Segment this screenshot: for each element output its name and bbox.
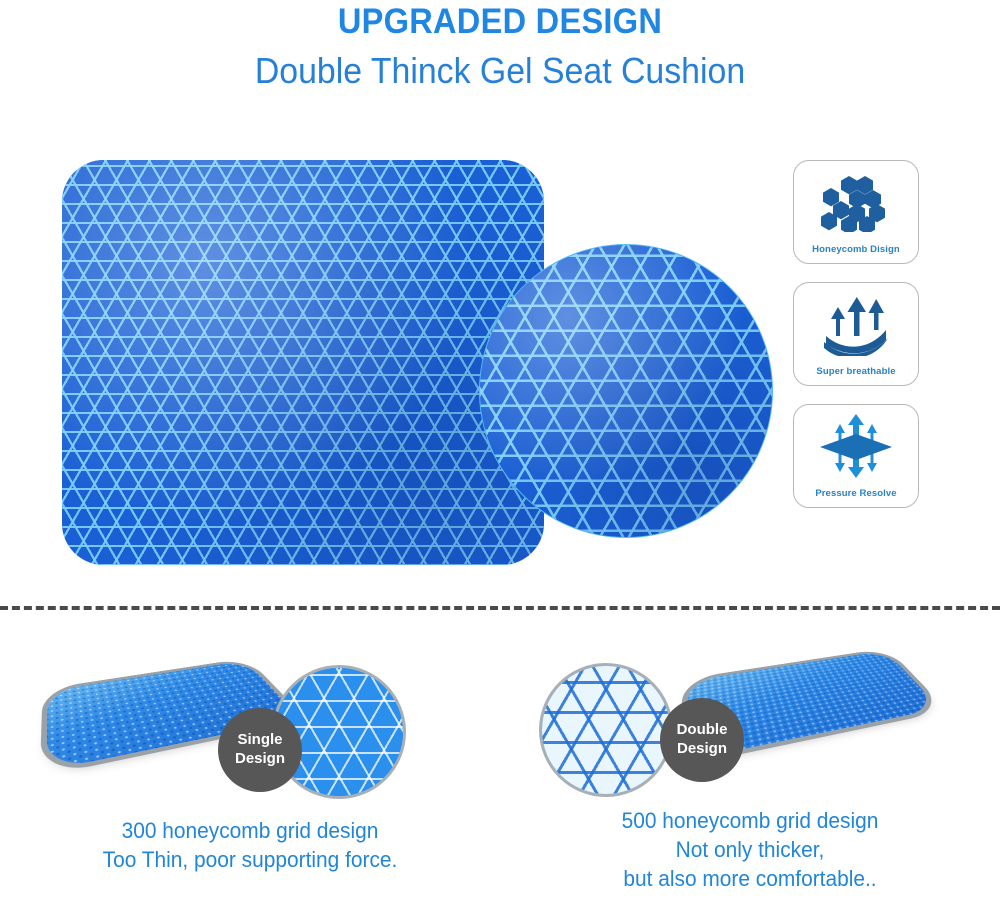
- round-gel-cushion-image: [480, 245, 772, 537]
- double-design-closeup-image: [542, 666, 670, 794]
- caption-line-3: but also more comfortable..: [513, 864, 988, 893]
- comparison-right-double: Double Design 500 honeycomb grid design …: [500, 620, 1000, 902]
- single-design-badge[interactable]: Single Design: [218, 708, 302, 792]
- double-design-badge[interactable]: Double Design: [660, 698, 744, 782]
- caption-line-2: Not only thicker,: [513, 835, 988, 864]
- badge-label: Pressure Resolve: [815, 488, 896, 499]
- honeycomb-texture-large: [480, 245, 772, 537]
- caption-line-1: 500 honeycomb grid design: [513, 806, 988, 835]
- badge-label: Super breathable: [816, 366, 895, 377]
- diamond-spread-arrows-icon: [794, 405, 918, 488]
- badge-line-1: Double: [677, 721, 728, 740]
- section-divider: [0, 606, 1000, 610]
- caption-line-1: 300 honeycomb grid design: [13, 816, 488, 845]
- badge-line-2: Design: [677, 740, 727, 759]
- square-gel-cushion-image: [62, 160, 544, 565]
- double-design-caption: 500 honeycomb grid design Not only thick…: [513, 806, 988, 893]
- badge-honeycomb-design[interactable]: Honeycomb Disign: [793, 160, 919, 264]
- badge-label: Honeycomb Disign: [812, 244, 900, 255]
- hero-product-area: Honeycomb Disign: [0, 0, 1000, 600]
- comparison-left-single: Single Design 300 honeycomb grid design …: [0, 620, 500, 902]
- badge-pressure-resolve[interactable]: Pressure Resolve: [793, 404, 919, 508]
- caption-line-2: Too Thin, poor supporting force.: [13, 845, 488, 874]
- badge-line-1: Single: [237, 731, 282, 750]
- badge-line-2: Design: [235, 750, 285, 769]
- honeycomb-texture: [62, 160, 544, 565]
- comparison-section: Single Design 300 honeycomb grid design …: [0, 620, 1000, 902]
- honeycomb-closeup-texture: [542, 666, 670, 794]
- feature-badge-list: Honeycomb Disign: [793, 160, 921, 526]
- upward-arrows-wave-icon: [794, 283, 918, 366]
- badge-super-breathable[interactable]: Super breathable: [793, 282, 919, 386]
- honeycomb-hexagons-icon: [794, 161, 918, 244]
- single-design-caption: 300 honeycomb grid design Too Thin, poor…: [13, 816, 488, 874]
